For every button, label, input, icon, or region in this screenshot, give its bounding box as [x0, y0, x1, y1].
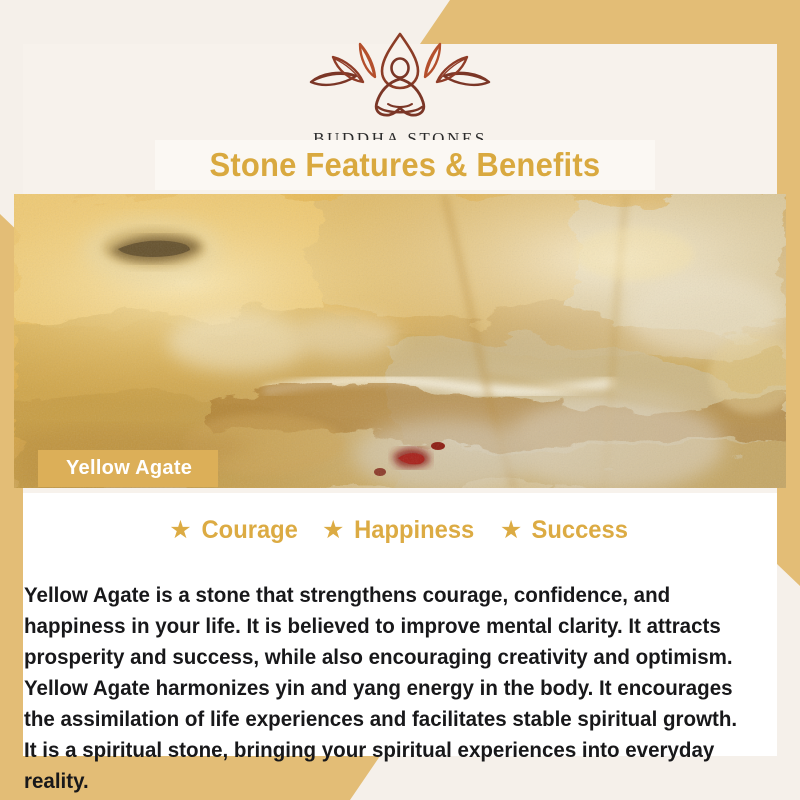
title-banner: Stone Features & Benefits	[155, 140, 655, 190]
page-title: Stone Features & Benefits	[210, 146, 601, 184]
star-icon: ★	[322, 518, 344, 543]
star-icon: ★	[500, 518, 522, 543]
benefit-label: Happiness	[355, 516, 475, 545]
benefit-label: Courage	[201, 516, 297, 545]
benefits-row: ★ Courage ★ Happiness ★ Success	[0, 516, 800, 545]
stone-description: Yellow Agate is a stone that strengthens…	[24, 580, 742, 797]
stone-benefits-poster: BUDDHA STONES Stone Features & Benefits	[0, 0, 800, 800]
benefit-item-success: ★ Success	[500, 516, 631, 545]
stone-photo	[14, 194, 786, 488]
brand-logo-block: BUDDHA STONES	[0, 28, 800, 149]
benefit-item-happiness: ★ Happiness	[322, 516, 478, 545]
benefit-item-courage: ★ Courage	[169, 516, 300, 545]
lotus-meditation-icon	[0, 28, 800, 125]
stone-name-label: Yellow Agate	[66, 457, 192, 480]
stone-name-chip: Yellow Agate	[38, 450, 218, 487]
star-icon: ★	[169, 518, 191, 543]
benefit-label: Success	[532, 516, 628, 545]
